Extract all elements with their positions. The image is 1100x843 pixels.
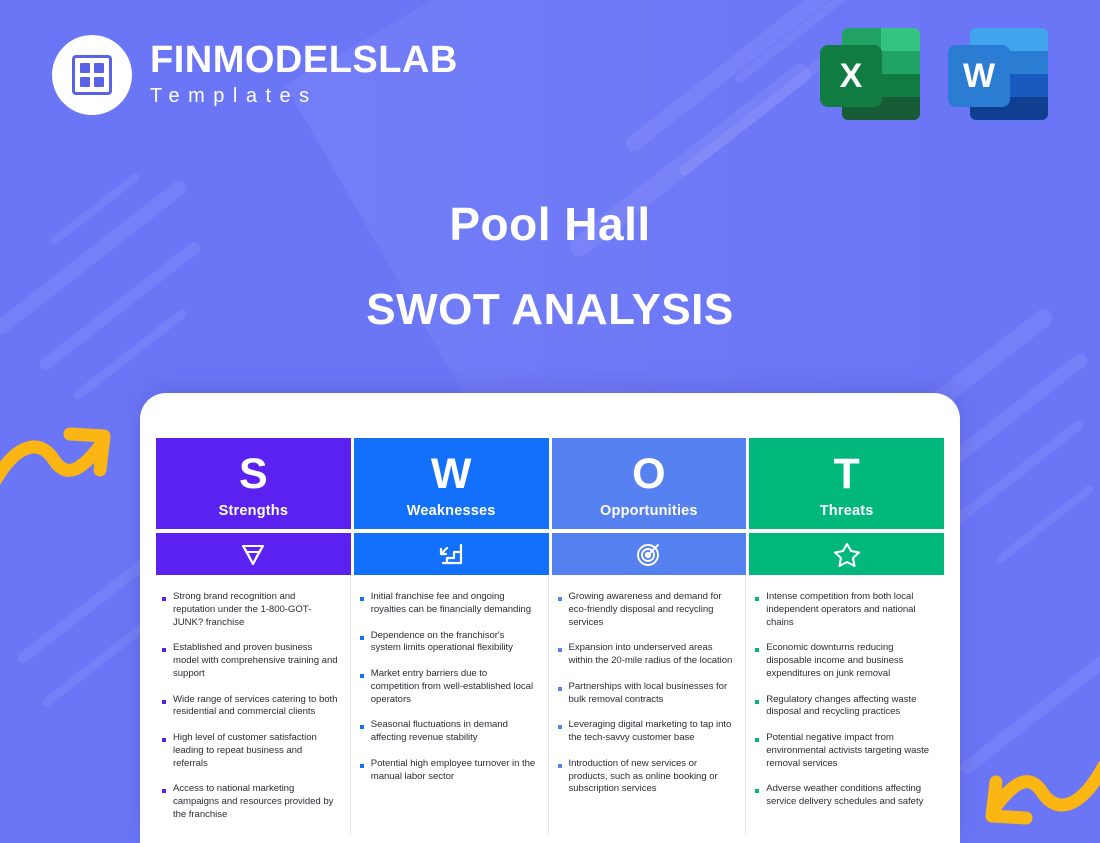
bullet-marker [755,738,759,742]
list-item-text: Wide range of services catering to both … [173,694,338,720]
list-item-text: Potential high employee turnover in the … [371,758,536,784]
title-threats: Threats [820,503,874,519]
word-icon: W [948,28,1048,120]
list-item: Potential high employee turnover in the … [360,758,536,784]
letter-s: S [239,453,268,496]
list-item-text: Potential negative impact from environme… [766,732,932,770]
bullet-marker [360,764,364,768]
bullet-marker [558,648,562,652]
analysis-title: SWOT ANALYSIS [0,284,1100,337]
list-item-text: High level of customer satisfaction lead… [173,732,338,770]
brand-name: FINMODELSLAB [150,41,458,81]
list-item-text: Market entry barriers due to competition… [371,668,536,706]
swot-table: S Strengths W Weaknesses O Opportunities… [156,438,944,835]
list-item: High level of customer satisfaction lead… [162,732,338,770]
swot-header-strengths: S Strengths [156,438,351,529]
list-item-text: Seasonal fluctuations in demand affectin… [371,719,536,745]
list-item-text: Growing awareness and demand for eco-fri… [569,591,734,629]
list-item: Established and proven business model wi… [162,642,338,680]
bullet-marker [360,725,364,729]
list-item: Potential negative impact from environme… [755,732,932,770]
swot-header-opportunities: O Opportunities [552,438,747,529]
squiggly-arrow-down-left-icon [968,752,1100,843]
descending-stairs-icon [354,533,549,575]
bullet-marker [755,789,759,793]
business-title: Pool Hall [0,196,1100,254]
bullet-marker [558,597,562,601]
excel-icon: X [820,28,920,120]
list-item-text: Economic downturns reducing disposable i… [766,642,932,680]
list-item-text: Partnerships with local businesses for b… [569,681,734,707]
title-strengths: Strengths [219,503,288,519]
bullet-marker [558,725,562,729]
bullet-marker [360,674,364,678]
excel-letter: X [820,45,882,107]
list-item: Growing awareness and demand for eco-fri… [558,591,734,629]
list-item: Partnerships with local businesses for b… [558,681,734,707]
list-item-text: Introduction of new services or products… [569,758,734,796]
list-item-text: Access to national marketing campaigns a… [173,783,338,821]
bullet-marker [162,738,166,742]
bullet-marker [162,648,166,652]
swot-body-weaknesses: Initial franchise fee and ongoing royalt… [354,575,549,835]
diamond-icon [156,533,351,575]
list-item-text: Initial franchise fee and ongoing royalt… [371,591,536,617]
swot-header-weaknesses: W Weaknesses [354,438,549,529]
list-item: Leveraging digital marketing to tap into… [558,719,734,745]
title-weaknesses: Weaknesses [407,503,496,519]
bullet-marker [755,700,759,704]
list-item: Initial franchise fee and ongoing royalt… [360,591,536,617]
bullet-marker [360,636,364,640]
list-item-text: Dependence on the franchisor's system li… [371,630,536,656]
bullet-marker [162,597,166,601]
brand-logo: FINMODELSLAB Templates [52,35,458,115]
letter-w: W [431,453,472,496]
title-block: Pool Hall SWOT ANALYSIS [0,196,1100,336]
list-item: Adverse weather conditions affecting ser… [755,783,932,809]
swot-body-opportunities: Growing awareness and demand for eco-fri… [552,575,747,835]
list-item-text: Leveraging digital marketing to tap into… [569,719,734,745]
bullet-marker [162,789,166,793]
swot-header-threats: T Threats [749,438,944,529]
bullet-marker [755,648,759,652]
list-item-text: Established and proven business model wi… [173,642,338,680]
list-item-text: Intense competition from both local inde… [766,591,932,629]
squiggly-arrow-up-right-icon [0,398,128,503]
list-item: Dependence on the franchisor's system li… [360,630,536,656]
list-item: Seasonal fluctuations in demand affectin… [360,719,536,745]
list-item-text: Adverse weather conditions affecting ser… [766,783,932,809]
list-item: Intense competition from both local inde… [755,591,932,629]
letter-o: O [632,453,665,496]
bullet-marker [162,700,166,704]
bullet-marker [558,764,562,768]
star-icon [749,533,944,575]
list-item-text: Expansion into underserved areas within … [569,642,734,668]
list-item: Expansion into underserved areas within … [558,642,734,668]
title-opportunities: Opportunities [600,503,698,519]
swot-body-strengths: Strong brand recognition and reputation … [156,575,351,835]
swot-body-threats: Intense competition from both local inde… [749,575,944,835]
list-item-text: Regulatory changes affecting waste dispo… [766,694,932,720]
list-item: Wide range of services catering to both … [162,694,338,720]
swot-card: S Strengths W Weaknesses O Opportunities… [140,393,960,843]
bullet-marker [360,597,364,601]
format-icons: X W [820,28,1048,120]
bullet-marker [755,597,759,601]
brand-subtitle: Templates [150,83,458,109]
list-item: Access to national marketing campaigns a… [162,783,338,821]
list-item: Market entry barriers due to competition… [360,668,536,706]
list-item: Strong brand recognition and reputation … [162,591,338,629]
letter-t: T [833,453,859,496]
list-item-text: Strong brand recognition and reputation … [173,591,338,629]
grid-logo-icon [52,35,132,115]
list-item: Introduction of new services or products… [558,758,734,796]
list-item: Economic downturns reducing disposable i… [755,642,932,680]
page-header: FINMODELSLAB Templates X W [0,0,1100,150]
list-item: Regulatory changes affecting waste dispo… [755,694,932,720]
word-letter: W [948,45,1010,107]
target-icon [552,533,747,575]
bullet-marker [558,687,562,691]
